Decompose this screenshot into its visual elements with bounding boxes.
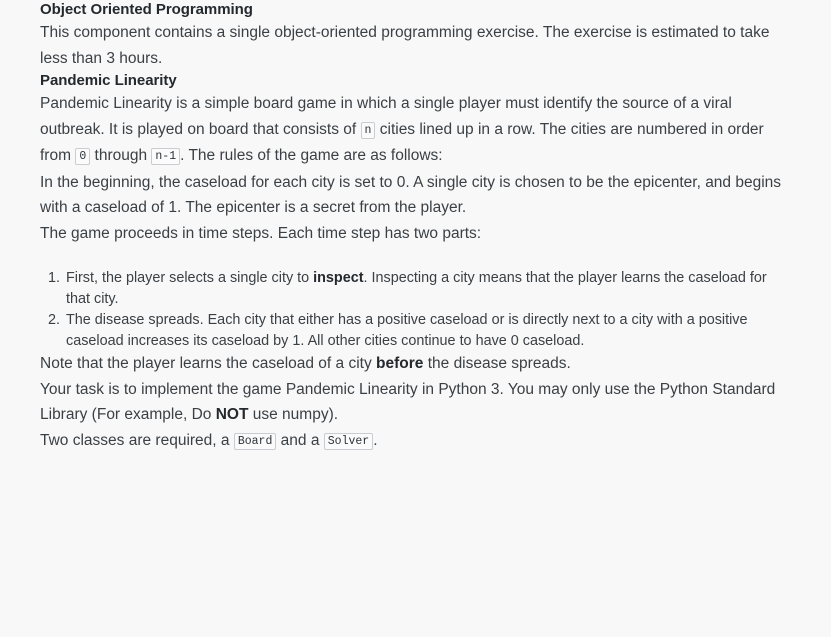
task-text-2: use numpy).	[248, 406, 338, 423]
code-n-minus-1: n-1	[151, 148, 180, 165]
exercise-document: Object Oriented Programming This compone…	[0, 0, 831, 454]
classes-text-3: .	[373, 432, 377, 449]
code-zero: 0	[75, 148, 90, 165]
classes-text-1: Two classes are required, a	[40, 432, 234, 449]
exercise-heading: Pandemic Linearity	[40, 71, 786, 91]
overview-text-4: . The rules of the game are as follows:	[180, 147, 443, 164]
code-n: n	[361, 122, 376, 139]
overview-text-3: through	[90, 147, 151, 164]
task-emphasis: NOT	[216, 406, 249, 423]
rule-1-emphasis: inspect	[313, 270, 363, 286]
code-board: Board	[234, 433, 277, 450]
note-paragraph: Note that the player learns the caseload…	[40, 351, 786, 377]
list-item: First, the player selects a single city …	[64, 268, 786, 309]
component-heading: Object Oriented Programming	[40, 0, 786, 20]
setup-paragraph: In the beginning, the caseload for each …	[40, 170, 786, 221]
task-paragraph: Your task is to implement the game Pande…	[40, 377, 786, 428]
component-intro-paragraph: This component contains a single object-…	[40, 20, 786, 71]
task-text-1: Your task is to implement the game Pande…	[40, 381, 775, 424]
overview-paragraph: Pandemic Linearity is a simple board gam…	[40, 91, 786, 170]
classes-text-2: and a	[276, 432, 323, 449]
classes-paragraph: Two classes are required, a Board and a …	[40, 428, 786, 455]
rules-list: First, the player selects a single city …	[40, 268, 786, 351]
timesteps-paragraph: The game proceeds in time steps. Each ti…	[40, 221, 786, 247]
note-text-2: the disease spreads.	[423, 355, 570, 372]
note-emphasis: before	[376, 355, 423, 372]
list-item: The disease spreads. Each city that eith…	[64, 310, 786, 351]
note-text-1: Note that the player learns the caseload…	[40, 355, 376, 372]
code-solver: Solver	[324, 433, 373, 450]
rule-2-text-1: The disease spreads. Each city that eith…	[66, 312, 748, 349]
rule-1-text-1: First, the player selects a single city …	[66, 270, 313, 286]
